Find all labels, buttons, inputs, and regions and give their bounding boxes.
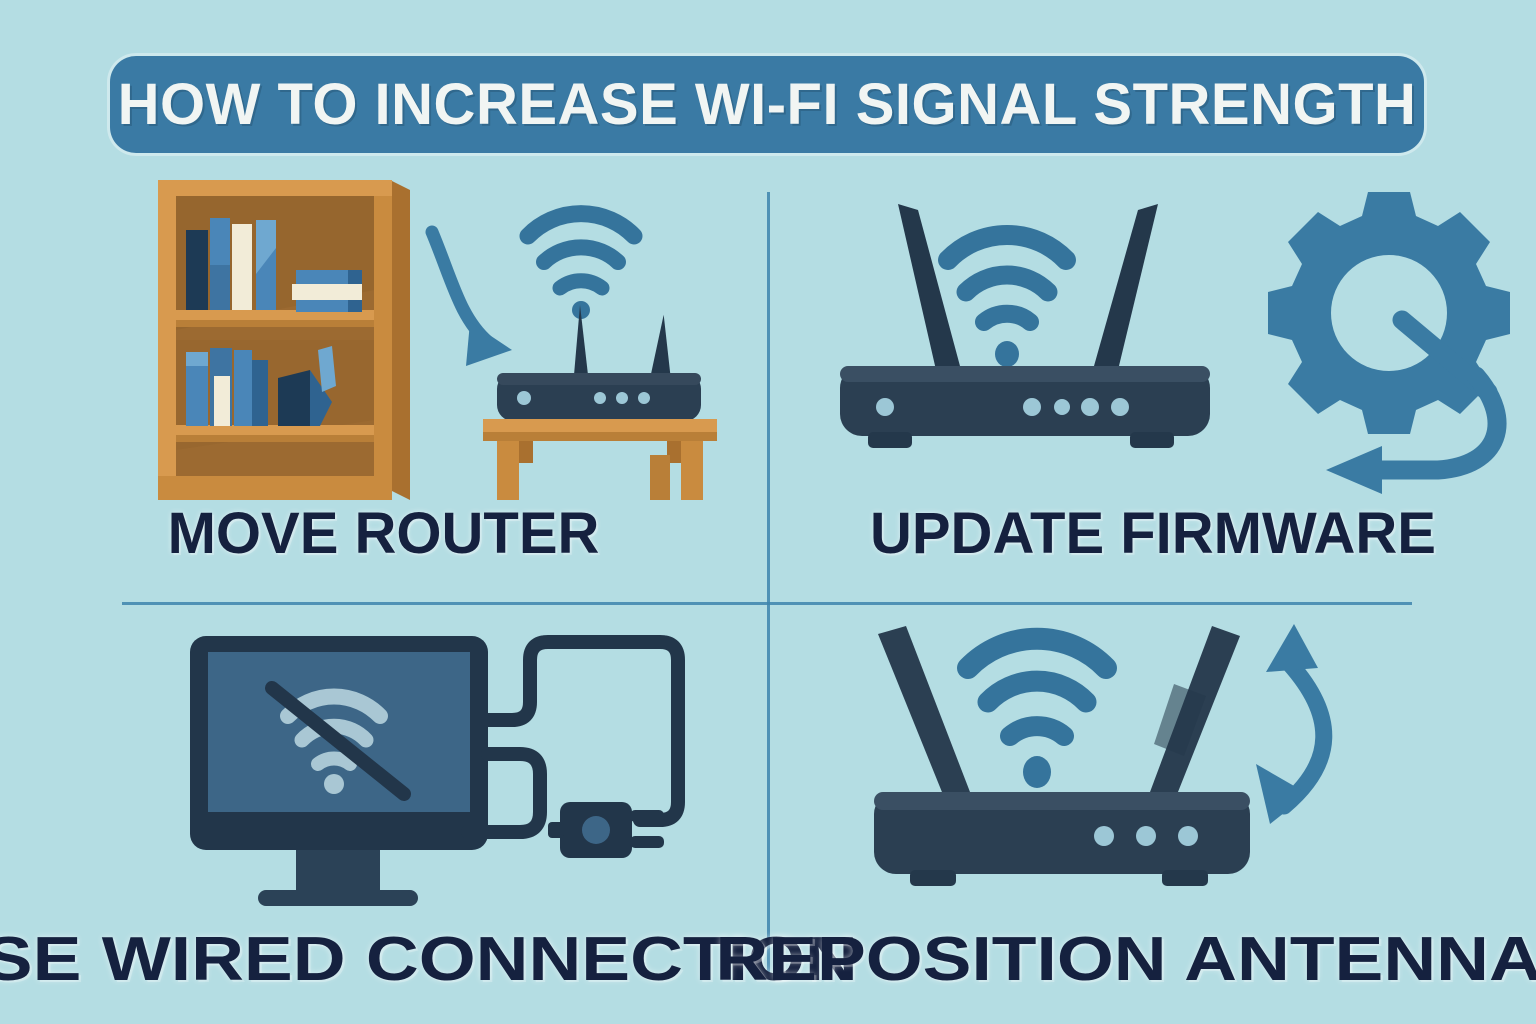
router-icon [497,305,701,421]
wifi-signal-icon [528,214,634,319]
panel-update-firmware-art [770,170,1536,500]
panel-label-update-firmware: UPDATE FIRMWARE [770,500,1536,567]
router-icon-body [840,366,1210,448]
panel-reposition-antennas: REPOSITION ANTENNAS [770,606,1536,1024]
curved-arrow-icon [432,232,512,366]
panel-label-reposition-antennas: REPOSITION ANTENNAS [701,924,1536,995]
wifi-signal-icon [948,235,1066,367]
panel-move-router: MOVE ROUTER [0,170,767,602]
double-arrow-icon [1256,624,1324,824]
panel-move-router-art [0,170,767,500]
table-icon [483,419,717,500]
page-title: HOW TO INCREASE WI-FI SIGNAL STRENGTH [118,71,1417,138]
divider-horizontal [122,602,1412,605]
gear-icon [1268,192,1510,434]
panel-use-wired-connection: USE WIRED CONNECTION [0,606,767,1024]
panel-reposition-antennas-art [770,606,1536,936]
monitor-icon [190,636,488,906]
bookshelf-icon [158,180,410,500]
panel-use-wired-connection-art [0,606,767,936]
router-icon-body [874,792,1250,886]
infographic-canvas: HOW TO INCREASE WI-FI SIGNAL STRENGTH [0,0,1536,1024]
panel-label-move-router: MOVE ROUTER [0,500,767,567]
title-banner: HOW TO INCREASE WI-FI SIGNAL STRENGTH [110,56,1424,153]
plug-icon [548,802,664,858]
panel-update-firmware: UPDATE FIRMWARE [770,170,1536,602]
wifi-signal-icon [968,639,1106,788]
